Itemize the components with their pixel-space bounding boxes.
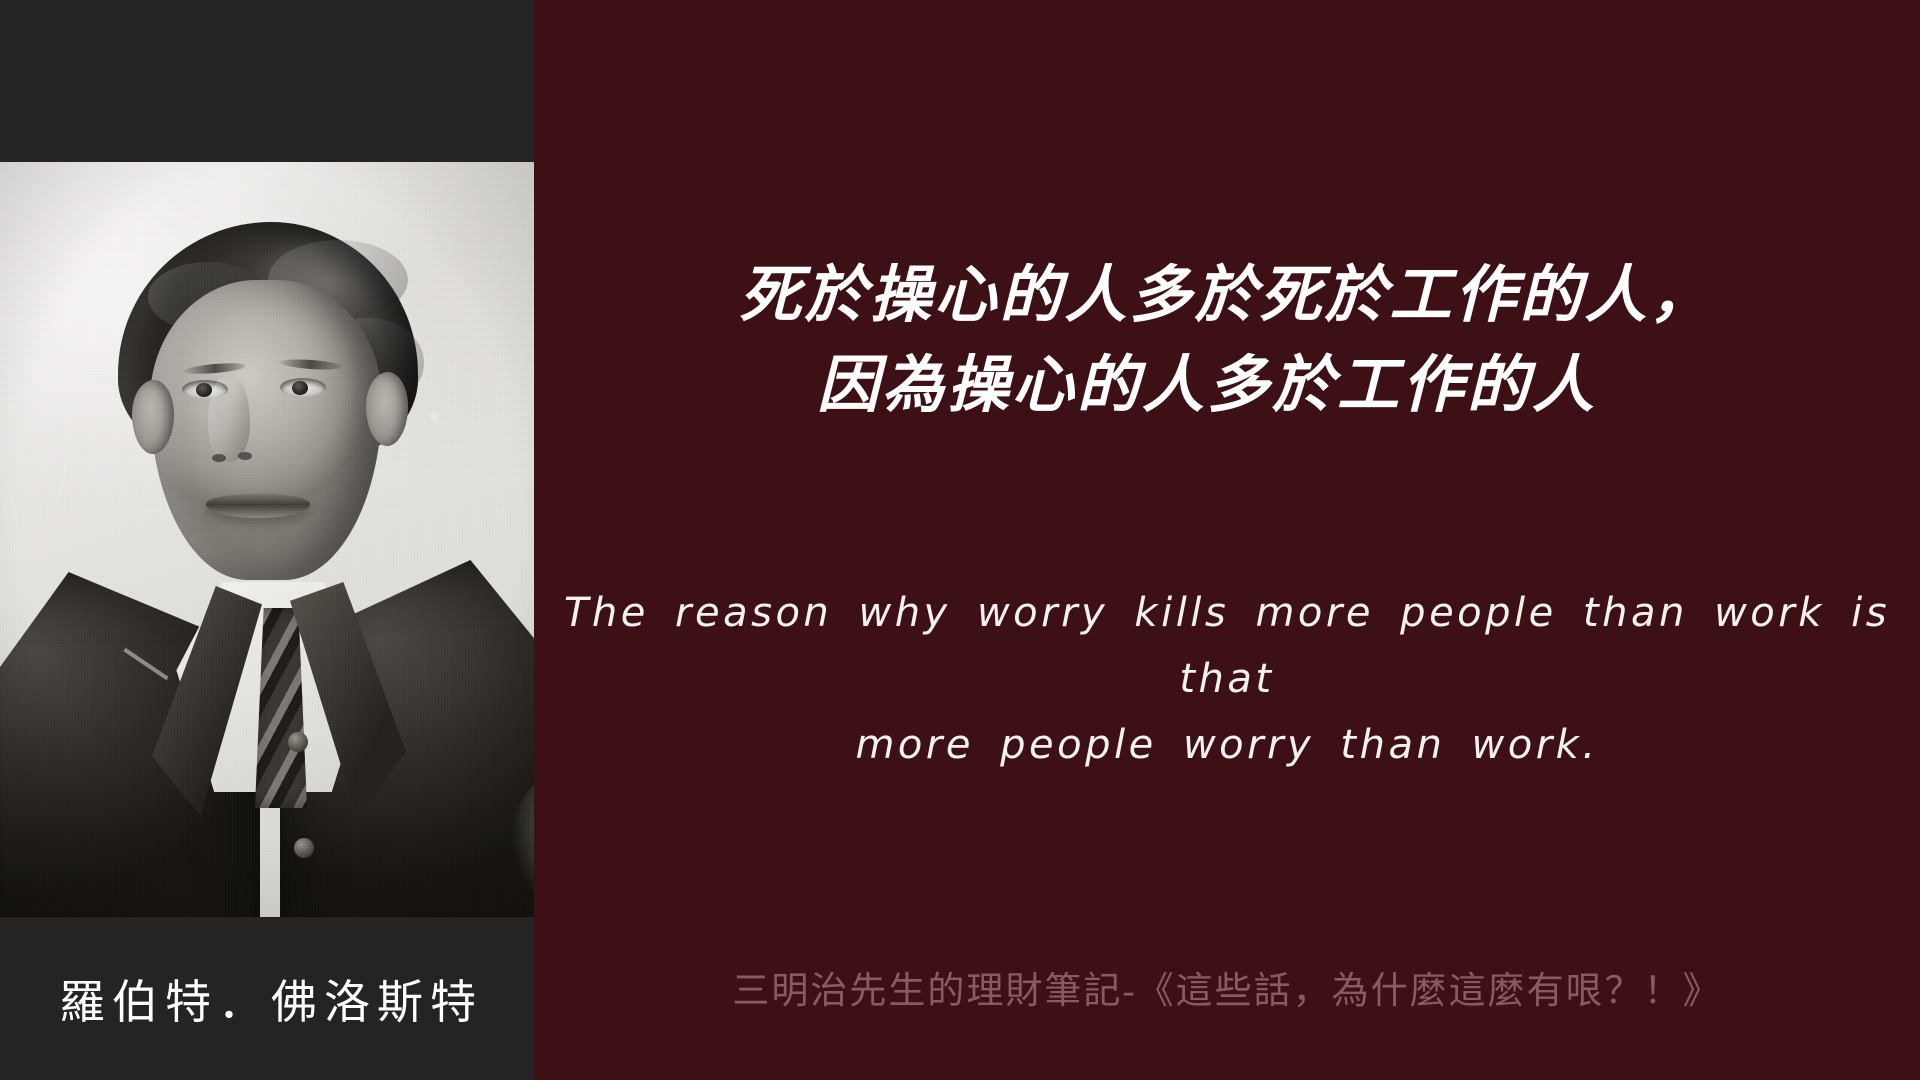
author-name-text: 羅伯特．佛洛斯特 (51, 966, 483, 1032)
portrait-panel: 羅伯特．佛洛斯特 (0, 0, 534, 1080)
chinese-quote-line-2: 因為操心的人多於工作的人 (534, 340, 1920, 430)
portrait-photo (0, 162, 534, 917)
english-quote-line-1: The reason why worry kills more people t… (534, 580, 1920, 712)
author-name-caption: 羅伯特．佛洛斯特 (0, 917, 534, 1080)
chinese-quote-line-1: 死於操心的人多於死於工作的人， (534, 250, 1920, 340)
english-quote: The reason why worry kills more people t… (534, 580, 1920, 778)
quote-content: 死於操心的人多於死於工作的人， 因為操心的人多於工作的人 The reason … (534, 0, 1920, 1080)
chinese-quote: 死於操心的人多於死於工作的人， 因為操心的人多於工作的人 (534, 250, 1920, 430)
source-attribution: 三明治先生的理財筆記-《這些話，為什麼這麼有哏？！》 (534, 960, 1920, 1014)
english-quote-line-2: more people worry than work. (534, 712, 1920, 778)
photo-film-grain (0, 162, 534, 917)
quote-slide: 羅伯特．佛洛斯特 死於操心的人多於死於工作的人， 因為操心的人多於工作的人 Th… (0, 0, 1920, 1080)
